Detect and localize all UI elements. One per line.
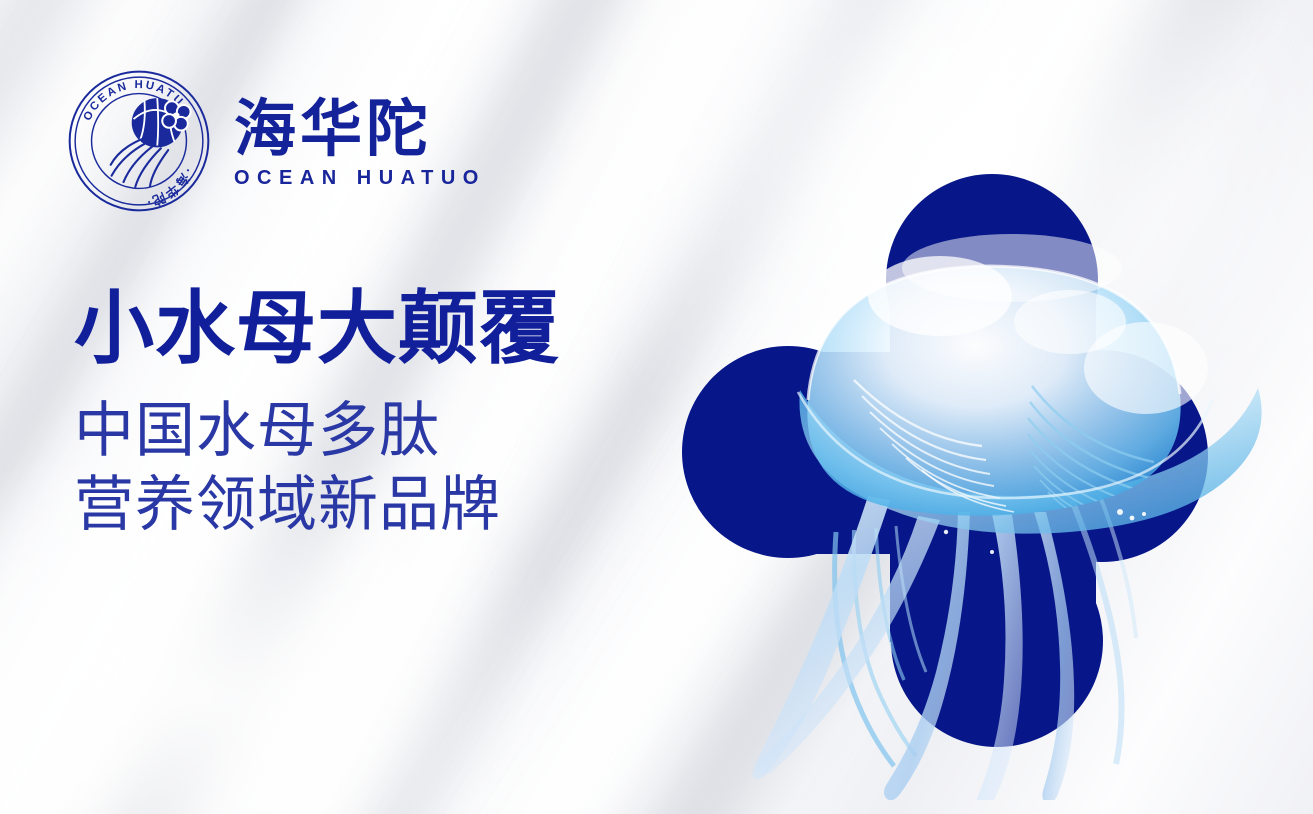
jellyfish-clover-artwork-icon (640, 100, 1313, 800)
subtitle-line-2: 营养领域新品牌 (74, 468, 694, 541)
wordmark-chinese: 海华陀 (234, 98, 432, 161)
brand-banner: OCEAN HUATUO ·海华陀· (0, 0, 1313, 814)
wordmark-english: OCEAN HUATUO (234, 167, 486, 190)
brand-wordmark: 海华陀 OCEAN HUATUO (234, 92, 486, 190)
jellyfish-highlight (1084, 322, 1208, 414)
headline-block: 小水母大颠覆 中国水母多肽 营养领域新品牌 (74, 286, 694, 541)
hero-artwork (640, 100, 1313, 800)
subtitle-block: 中国水母多肽 营养领域新品牌 (74, 394, 694, 540)
jellyfish-seal-logo-icon: OCEAN HUATUO ·海华陀· (66, 68, 212, 214)
subtitle-line-1: 中国水母多肽 (74, 394, 694, 467)
page-title: 小水母大颠覆 (74, 286, 694, 372)
brand-logo: OCEAN HUATUO ·海华陀· (66, 68, 486, 214)
